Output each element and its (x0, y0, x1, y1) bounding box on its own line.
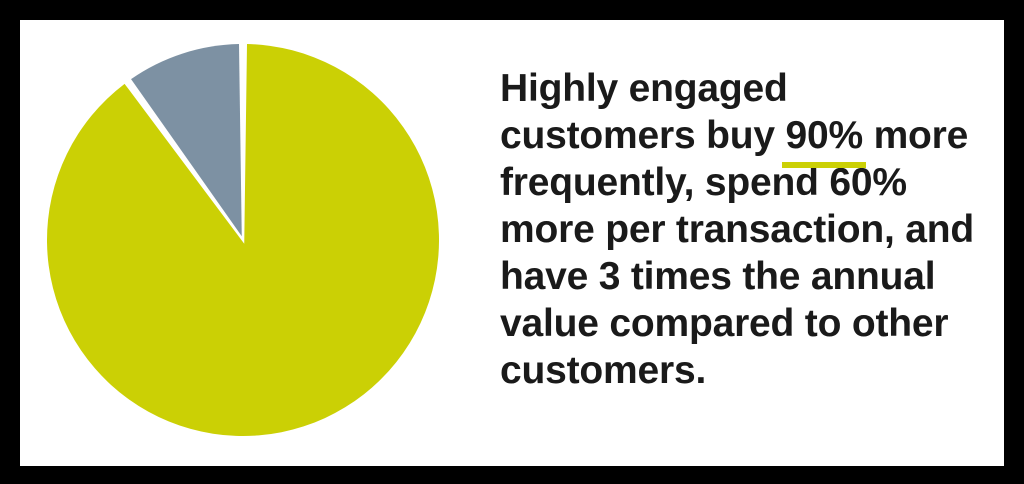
infographic-card: Highly engaged customers buy 90% more fr… (0, 0, 1024, 484)
content-panel: Highly engaged customers buy 90% more fr… (20, 20, 1004, 466)
pie-chart-svg (47, 44, 439, 436)
pie-slice-engaged-customers (47, 44, 439, 436)
highlight-90-percent: 90% (785, 112, 862, 159)
highlight-underline-bar (782, 162, 865, 168)
pie-chart (47, 44, 439, 436)
callout-text-before: Highly engaged customers buy (500, 67, 788, 157)
pie-slices (47, 44, 439, 436)
callout-statistic-text: Highly engaged customers buy 90% more fr… (500, 65, 990, 394)
highlight-value: 90% (785, 114, 862, 157)
callout-paragraph: Highly engaged customers buy 90% more fr… (500, 65, 990, 394)
